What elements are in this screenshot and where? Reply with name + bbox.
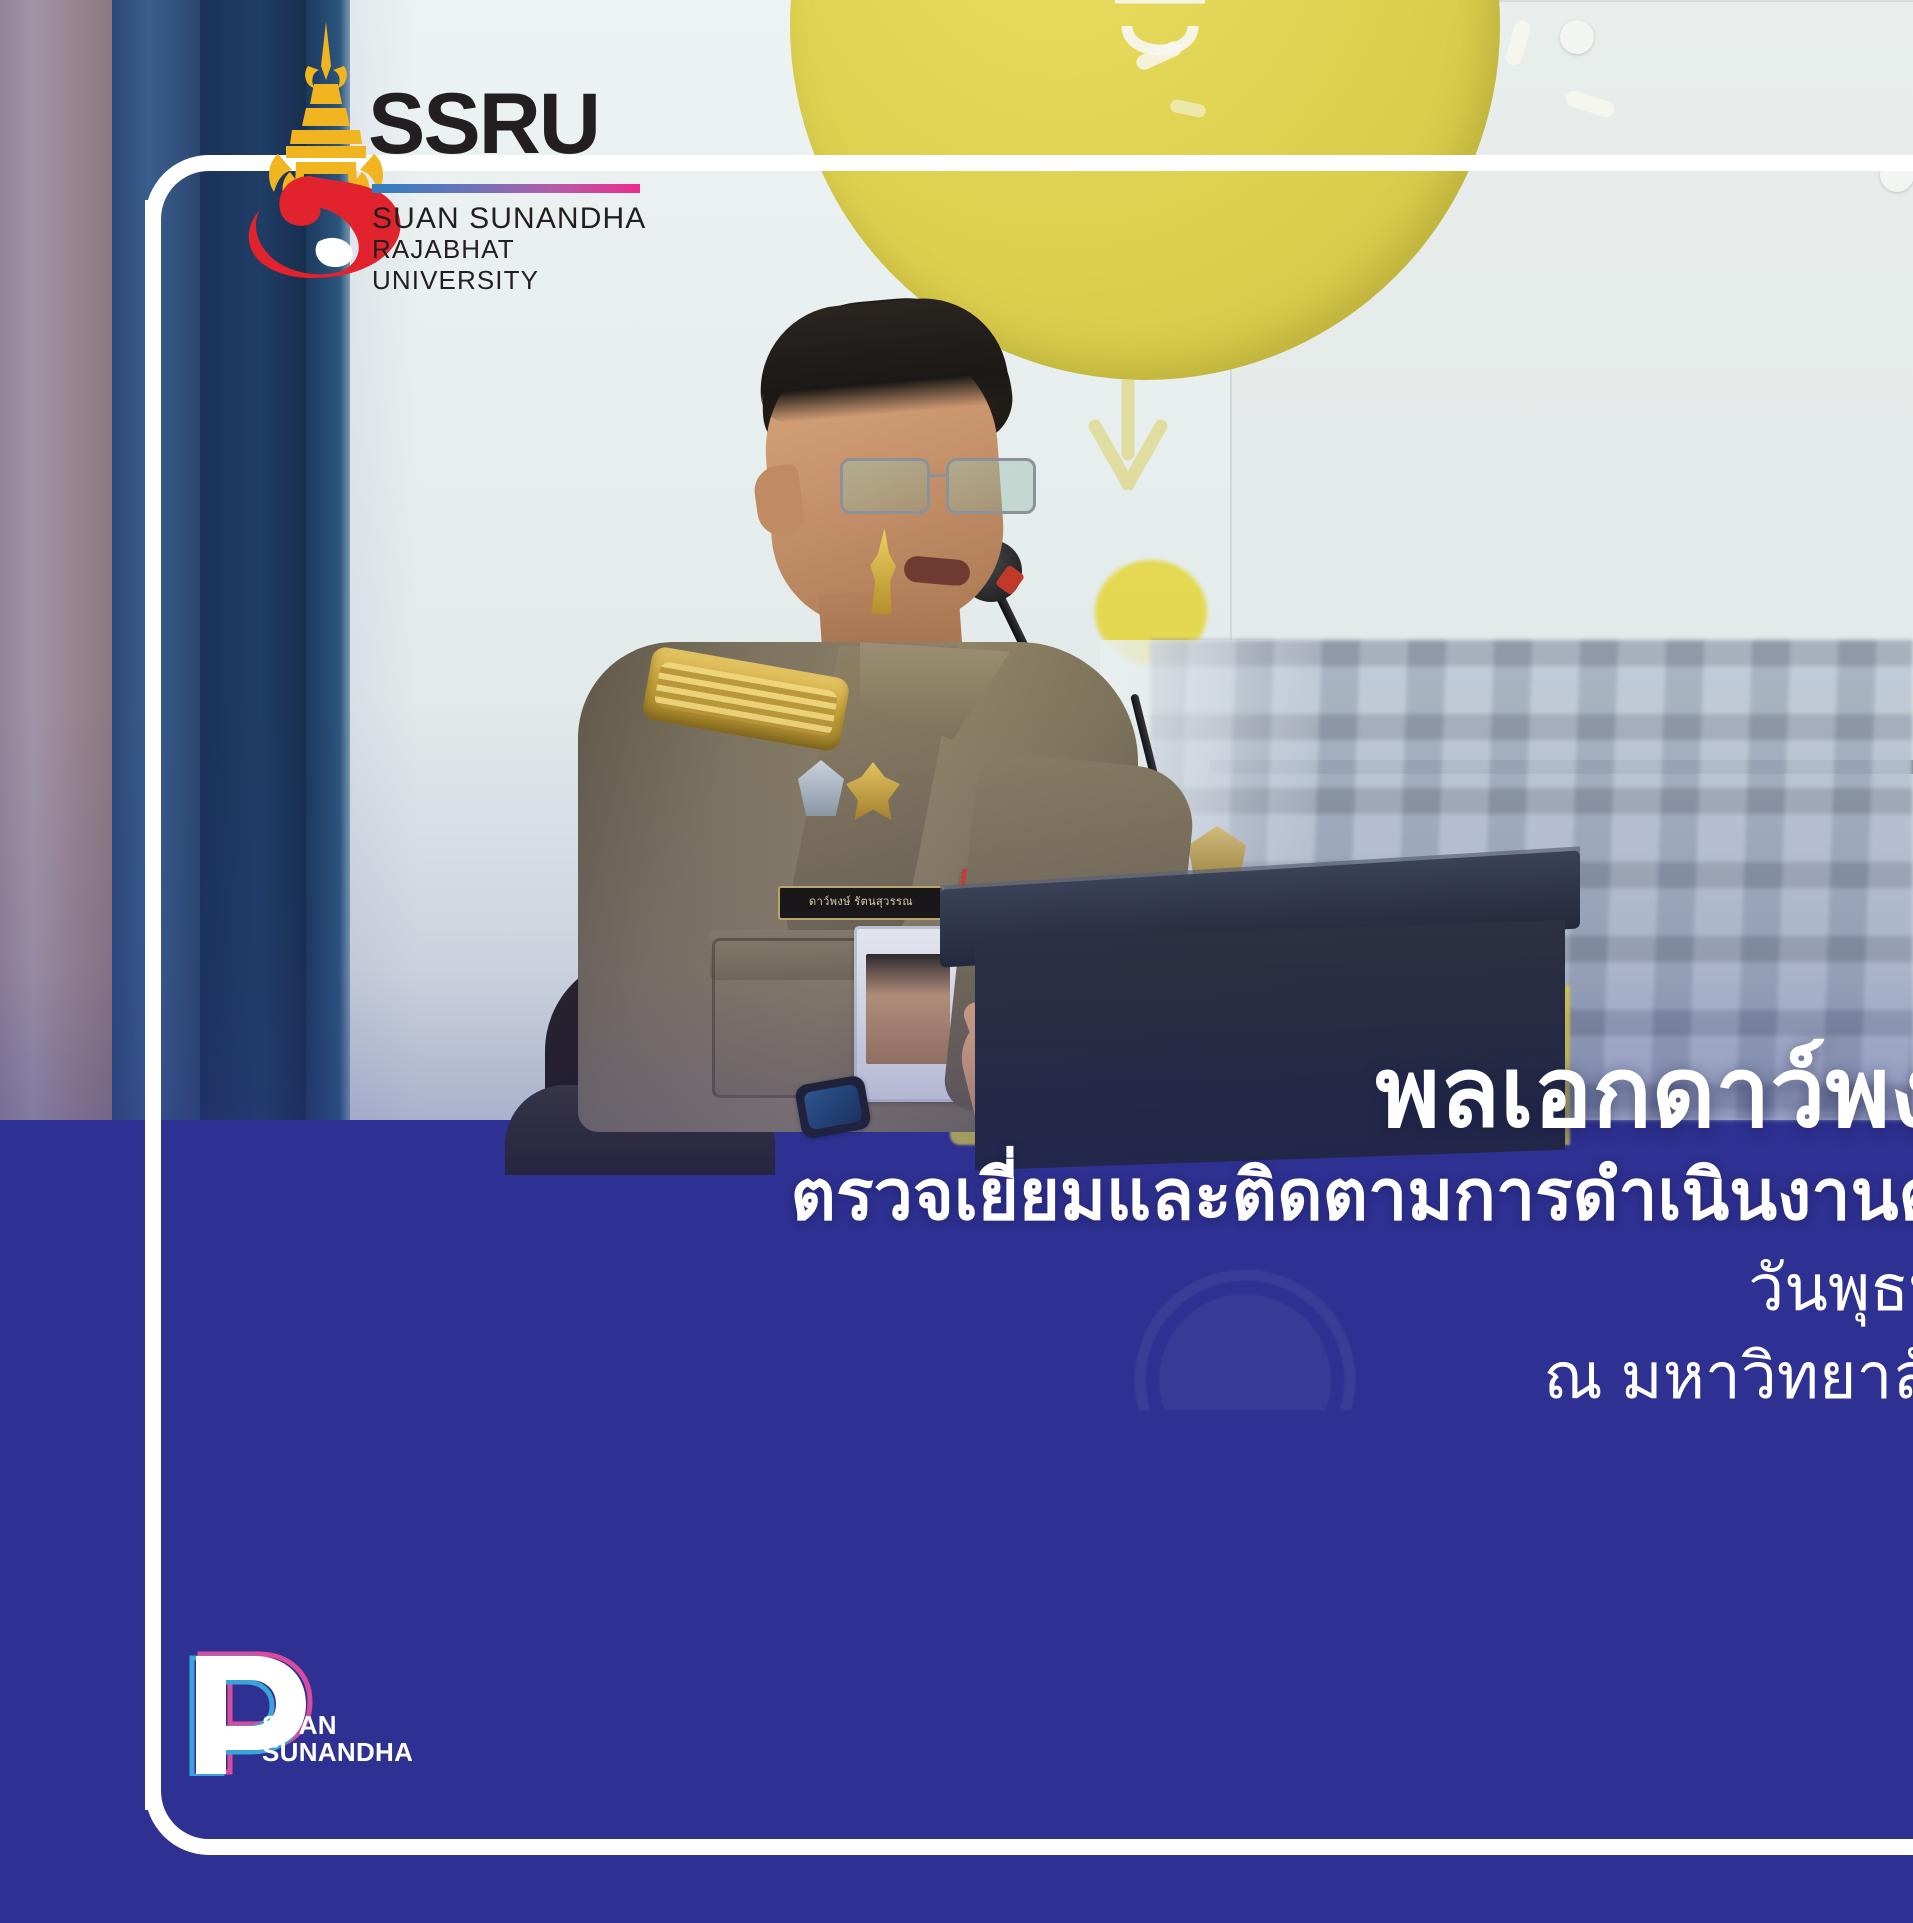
speaker-hair-front — [754, 291, 1011, 424]
ssru-name-line2: RAJABHAT UNIVERSITY — [372, 234, 650, 296]
headline-venue: ณ มหาวิทยาลัยราชภัฏสว — [0, 1336, 1913, 1416]
eyeglasses-icon — [840, 458, 1048, 520]
headline-subtitle: ตรวจเยี่ยมและติดตามการดำเนินงานตามยุทธศา — [0, 1151, 1913, 1241]
p-logo-line2: SUNANDHA — [262, 1737, 413, 1767]
ceiling-speaker-icon — [1560, 20, 1594, 54]
uniform-nametag-text: ดาว์พงษ์ รัตนสุวรรณ — [782, 892, 940, 910]
ssru-name-line1: SUAN SUNANDHA — [372, 202, 646, 236]
wood-wall-panel — [0, 0, 118, 1120]
headline-block: พลเอกดาว์พงษ์ รัตน ตรวจเยี่ยมและติดตามกา… — [0, 1035, 1913, 1416]
ssru-logo[interactable]: SSRU SUAN SUNANDHA RAJABHAT UNIVERSITY — [240, 22, 650, 262]
suan-sunandha-p-logo[interactable]: SUAN SUNANDHA — [186, 1648, 416, 1828]
ssru-gradient-rule — [372, 184, 640, 193]
ssru-acronym: SSRU — [368, 84, 599, 166]
frame-bar-bottom — [222, 1839, 1913, 1855]
headline-name: พลเอกดาว์พงษ์ รัตน — [0, 1035, 1913, 1151]
headline-date: วันพุธที่ 16 กรกฎ — [0, 1240, 1913, 1336]
p-logo-text: SUAN SUNANDHA — [262, 1712, 413, 1765]
speaker-ear — [751, 463, 806, 539]
frame-bar-left — [145, 200, 161, 1810]
event-photograph: 435 ดาว — [0, 0, 1913, 1923]
p-logo-line1: SUAN — [262, 1710, 337, 1740]
event-poster: 435 ดาว — [0, 0, 1913, 1923]
